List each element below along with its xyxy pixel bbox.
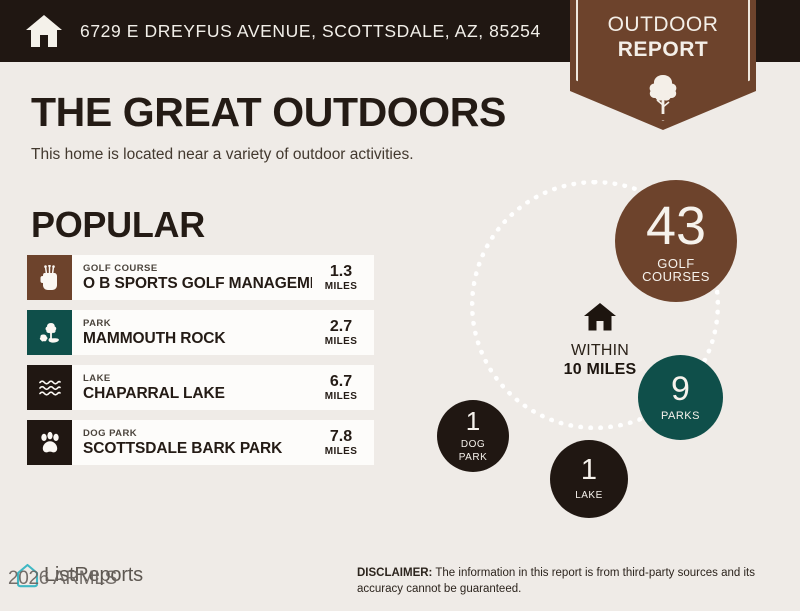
tree-icon xyxy=(643,72,683,116)
bubble-label-line1: PARKS xyxy=(661,410,700,423)
row-distance-unit: MILES xyxy=(325,280,358,293)
row-icon-tile xyxy=(27,365,72,410)
row-icon-tile xyxy=(27,420,72,465)
golf-bag-icon xyxy=(37,265,63,291)
popular-heading: POPULAR xyxy=(31,204,205,246)
row-name: O B SPORTS GOLF MANAGEMENT xyxy=(83,275,312,293)
bubble-value: 43 xyxy=(646,199,706,253)
row-icon-tile xyxy=(27,255,72,300)
bubble-dog-park[interactable]: 1 DOG PARK xyxy=(437,400,509,472)
disclaimer-label: DISCLAIMER: xyxy=(357,567,432,579)
disclaimer: DISCLAIMER: The information in this repo… xyxy=(357,566,777,597)
row-category: PARK xyxy=(83,318,312,330)
bubble-value: 9 xyxy=(671,372,690,406)
bubble-label-line2: COURSES xyxy=(642,270,710,283)
row-distance-unit: MILES xyxy=(325,390,358,403)
row-distance: 1.3 MILES xyxy=(312,255,374,300)
home-icon xyxy=(583,302,617,332)
row-distance: 2.7 MILES xyxy=(312,310,374,355)
paw-print-icon xyxy=(37,430,63,456)
amenity-count-diagram: WITHIN 10 MILES 43 GOLF COURSES 9 PARKS … xyxy=(420,160,800,530)
bubble-value: 1 xyxy=(581,456,597,485)
row-distance-value: 6.7 xyxy=(330,373,352,390)
outdoor-report-badge: OUTDOOR REPORT xyxy=(570,0,756,130)
center-line-2: 10 MILES xyxy=(545,360,655,379)
row-distance-value: 1.3 xyxy=(330,263,352,280)
bubble-golf-courses[interactable]: 43 GOLF COURSES xyxy=(615,180,737,302)
row-category: DOG PARK xyxy=(83,428,312,440)
list-item[interactable]: DOG PARK SCOTTSDALE BARK PARK 7.8 MILES xyxy=(27,420,374,465)
bubble-label-line1: DOG xyxy=(461,438,485,451)
row-text: DOG PARK SCOTTSDALE BARK PARK xyxy=(72,420,312,465)
park-trees-icon xyxy=(37,320,63,346)
row-name: CHAPARRAL LAKE xyxy=(83,385,312,403)
badge-title: OUTDOOR REPORT xyxy=(570,0,756,62)
row-text: LAKE CHAPARRAL LAKE xyxy=(72,365,312,410)
row-text: GOLF COURSE O B SPORTS GOLF MANAGEMENT xyxy=(72,255,312,300)
row-text: PARK MAMMOUTH ROCK xyxy=(72,310,312,355)
row-icon-tile xyxy=(27,310,72,355)
bubble-value: 1 xyxy=(466,408,480,434)
center-line-1: WITHIN xyxy=(545,341,655,360)
center-marker: WITHIN 10 MILES xyxy=(545,302,655,379)
row-distance: 6.7 MILES xyxy=(312,365,374,410)
title-block: THE GREAT OUTDOORS This home is located … xyxy=(31,88,551,165)
bubble-lake[interactable]: 1 LAKE xyxy=(550,440,628,518)
row-name: SCOTTSDALE BARK PARK xyxy=(83,440,312,458)
bubble-parks[interactable]: 9 PARKS xyxy=(638,355,723,440)
row-category: GOLF COURSE xyxy=(83,263,312,275)
popular-list: GOLF COURSE O B SPORTS GOLF MANAGEMENT 1… xyxy=(27,255,374,475)
badge-title-line2: REPORT xyxy=(570,37,756,62)
list-item[interactable]: PARK MAMMOUTH ROCK 2.7 MILES xyxy=(27,310,374,355)
row-distance-unit: MILES xyxy=(325,335,358,348)
list-item[interactable]: GOLF COURSE O B SPORTS GOLF MANAGEMENT 1… xyxy=(27,255,374,300)
row-distance-value: 2.7 xyxy=(330,318,352,335)
row-distance-value: 7.8 xyxy=(330,428,352,445)
water-waves-icon xyxy=(37,375,63,401)
header-address: 6729 E DREYFUS AVENUE, SCOTTSDALE, AZ, 8… xyxy=(80,21,541,42)
badge-title-line1: OUTDOOR xyxy=(570,12,756,37)
bubble-label-line2: PARK xyxy=(459,451,488,464)
row-distance: 7.8 MILES xyxy=(312,420,374,465)
page-title: THE GREAT OUTDOORS xyxy=(31,88,551,136)
home-icon xyxy=(24,13,64,49)
list-item[interactable]: LAKE CHAPARRAL LAKE 6.7 MILES xyxy=(27,365,374,410)
row-name: MAMMOUTH ROCK xyxy=(83,330,312,348)
mls-watermark: 2026 ARMLS xyxy=(8,568,117,590)
bubble-label-line1: LAKE xyxy=(575,489,603,502)
row-distance-unit: MILES xyxy=(325,445,358,458)
row-category: LAKE xyxy=(83,373,312,385)
